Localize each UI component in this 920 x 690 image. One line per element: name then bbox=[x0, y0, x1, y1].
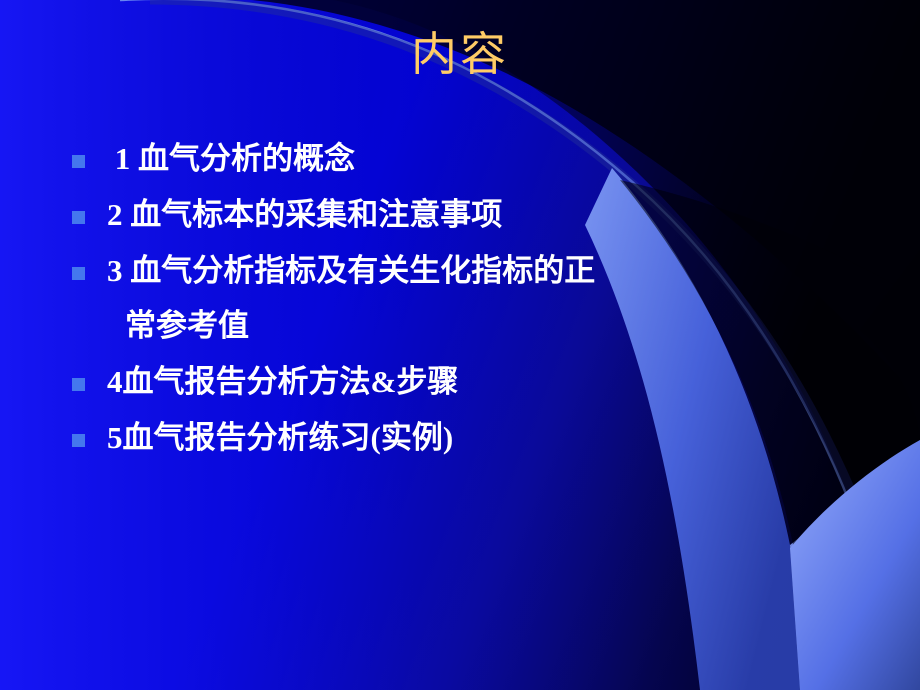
list-item: 1 血气分析的概念 bbox=[60, 138, 860, 181]
list-item-label: 2 血气标本的采集和注意事项 bbox=[107, 194, 502, 237]
list-item-label: 1 血气分析的概念 bbox=[107, 138, 355, 181]
list-item: 3 血气分析指标及有关生化指标的正 bbox=[60, 250, 860, 293]
bullet-square-icon bbox=[72, 378, 85, 391]
bullet-square-icon bbox=[72, 434, 85, 447]
list-item: 5血气报告分析练习(实例) bbox=[60, 417, 860, 460]
bullet-square-icon bbox=[72, 211, 85, 224]
bullet-list: 1 血气分析的概念 2 血气标本的采集和注意事项 3 血气分析指标及有关生化指标… bbox=[60, 138, 860, 473]
list-item-label: 常参考值 bbox=[107, 305, 249, 348]
list-item-label: 5血气报告分析练习(实例) bbox=[107, 417, 453, 460]
bullet-square-icon bbox=[72, 155, 85, 168]
list-item: 4血气报告分析方法&步骤 bbox=[60, 361, 860, 404]
list-item-continuation: 常参考值 bbox=[60, 305, 860, 348]
bullet-square-icon bbox=[72, 267, 85, 280]
list-item: 2 血气标本的采集和注意事项 bbox=[60, 194, 860, 237]
list-item-label: 3 血气分析指标及有关生化指标的正 bbox=[107, 250, 595, 293]
page-title: 内容 bbox=[0, 18, 920, 84]
list-item-label: 4血气报告分析方法&步骤 bbox=[107, 361, 458, 404]
presentation-slide: 内容 1 血气分析的概念 2 血气标本的采集和注意事项 3 血气分析指标及有关生… bbox=[0, 0, 920, 690]
